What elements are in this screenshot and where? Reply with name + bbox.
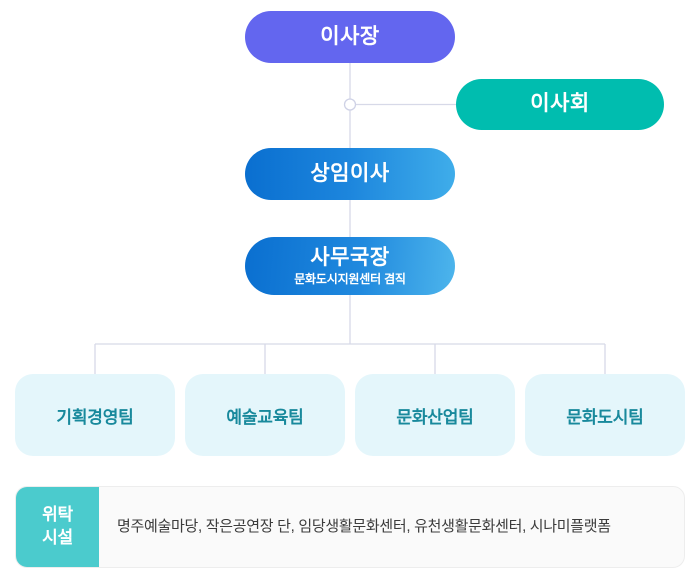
node-secretary-general-sublabel: 문화도시지원센터 겸직	[294, 273, 406, 287]
node-chairman[interactable]: 이사장	[245, 11, 455, 63]
node-chairman-label: 이사장	[320, 25, 379, 49]
node-secretary-general-label: 사무국장	[310, 246, 389, 270]
team-row: 기획경영팀 예술교육팀 문화산업팀 문화도시팀	[15, 374, 685, 456]
entrusted-facilities-row: 위탁 시설 명주예술마당, 작은공연장 단, 임당생활문화센터, 유천생활문화센…	[15, 486, 685, 568]
team-box-culture-industry[interactable]: 문화산업팀	[355, 374, 515, 456]
node-secretary-general[interactable]: 사무국장 문화도시지원센터 겸직	[245, 237, 455, 295]
entrusted-facilities-label: 위탁 시설	[16, 487, 99, 567]
circle-junction-icon	[345, 99, 356, 110]
team-box-culture-city[interactable]: 문화도시팀	[525, 374, 685, 456]
team-label-arts-education: 예술교육팀	[226, 403, 303, 428]
team-box-planning[interactable]: 기획경영팀	[15, 374, 175, 456]
node-standing-director[interactable]: 상임이사	[245, 148, 455, 200]
org-chart: 이사장 이사회 상임이사 사무국장 문화도시지원센터 겸직 기획경영팀 예술교육…	[0, 0, 700, 580]
node-board-of-directors[interactable]: 이사회	[456, 79, 664, 130]
entrusted-facilities-label-line1: 위탁	[42, 504, 73, 527]
team-label-culture-city: 문화도시팀	[566, 403, 643, 428]
team-label-culture-industry: 문화산업팀	[396, 403, 473, 428]
team-label-planning: 기획경영팀	[56, 403, 133, 428]
entrusted-facilities-list: 명주예술마당, 작은공연장 단, 임당생활문화센터, 유천생활문화센터, 시나미…	[99, 487, 684, 567]
entrusted-facilities-label-line2: 시설	[42, 527, 73, 550]
node-board-label: 이사회	[530, 92, 589, 116]
node-standing-director-label: 상임이사	[310, 162, 389, 186]
team-box-arts-education[interactable]: 예술교육팀	[185, 374, 345, 456]
